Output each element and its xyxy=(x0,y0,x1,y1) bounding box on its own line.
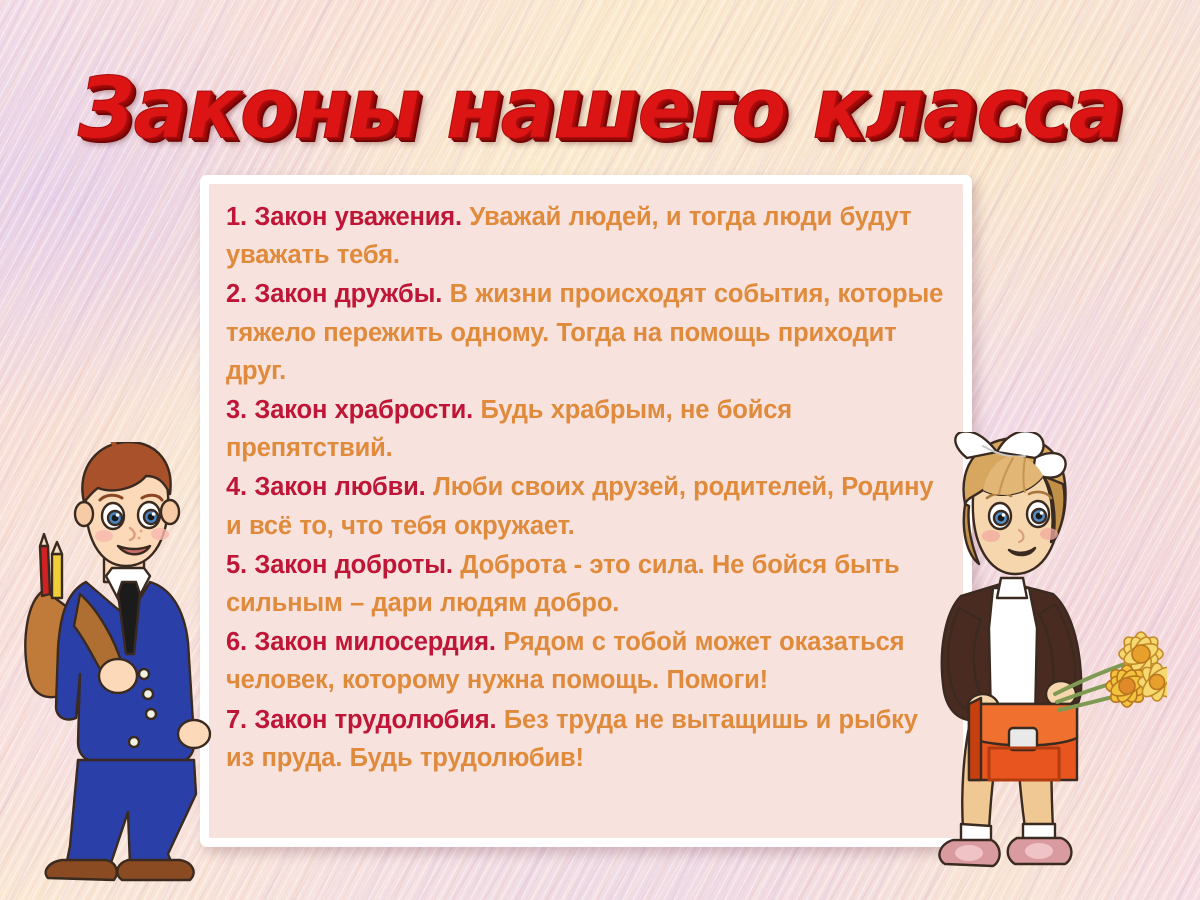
laws-panel: 1. Закон уважения. Уважай людей, и тогда… xyxy=(200,175,972,847)
law-item: 6. Закон милосердия. Рядом с тобой может… xyxy=(226,623,946,699)
law-heading: 6. Закон милосердия. xyxy=(226,628,496,656)
law-item: 3. Закон храбрости. Будь храбрым, не бой… xyxy=(226,391,946,467)
schoolgirl-illustration xyxy=(905,432,1167,882)
law-item: 4. Закон любви. Люби своих друзей, родит… xyxy=(226,468,946,544)
pencil-yellow-icon xyxy=(52,554,62,598)
law-item: 1. Закон уважения. Уважай людей, и тогда… xyxy=(226,198,946,274)
trousers-icon xyxy=(66,760,196,866)
law-heading: 3. Закон храбрости. xyxy=(226,396,473,424)
law-item: 5. Закон доброты. Доброта - это сила. Не… xyxy=(226,546,946,622)
hand-right-icon xyxy=(178,720,210,748)
law-item: 7. Закон трудолюбия. Без труда не вытащи… xyxy=(226,701,946,777)
collar-icon xyxy=(997,578,1027,598)
law-item: 2. Закон дружбы. В жизни происходят собы… xyxy=(226,275,946,390)
law-heading: 1. Закон уважения. xyxy=(226,203,462,231)
schoolboy-illustration xyxy=(18,442,238,882)
hand-icon xyxy=(99,659,137,693)
flowers-icon xyxy=(1106,632,1167,707)
slide-canvas: Законы нашего класса xyxy=(0,0,1200,900)
shoe-left-icon xyxy=(46,860,117,880)
law-heading: 4. Закон любви. xyxy=(226,473,426,501)
pencil-red-icon xyxy=(40,546,50,596)
law-heading: 5. Закон доброты. xyxy=(226,551,453,579)
law-heading: 7. Закон трудолюбия. xyxy=(226,706,496,734)
laws-panel-content: 1. Закон уважения. Уважай людей, и тогда… xyxy=(209,184,963,838)
shoe-right-icon xyxy=(117,860,193,880)
law-heading: 2. Закон дружбы. xyxy=(226,280,442,308)
